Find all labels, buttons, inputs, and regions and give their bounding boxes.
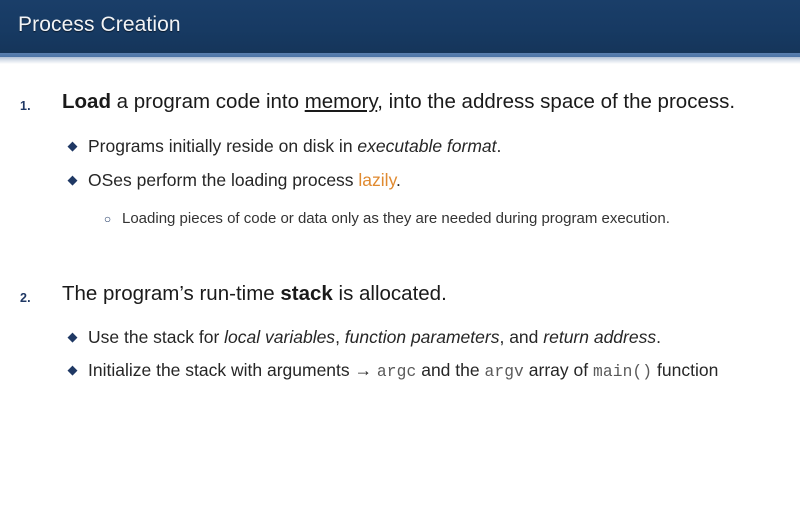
- run-plain-6c: , and: [499, 327, 543, 347]
- list-item-4: ○ Loading pieces of code or data only as…: [0, 205, 800, 233]
- diamond-bullet-icon: ◆: [64, 165, 81, 195]
- list-item-2: ◆ Programs initially reside on disk in e…: [0, 131, 800, 161]
- list-item-5: 2. The program’s run-time stack is alloc…: [0, 277, 800, 311]
- list-number-2: 2.: [20, 281, 31, 315]
- run-plain-1a: a program code into: [111, 90, 305, 113]
- diamond-bullet-icon: ◆: [64, 322, 81, 352]
- run-plain-5a: The program’s run-time: [62, 282, 280, 305]
- run-plain-6a: Use the stack for: [88, 327, 224, 347]
- run-italic-local-variables: local variables: [224, 327, 335, 347]
- right-arrow-icon: →: [355, 360, 373, 380]
- code-argc: argc: [377, 362, 416, 381]
- run-plain-5b: is allocated.: [333, 282, 447, 305]
- list-item-4-text: Loading pieces of code or data only as t…: [122, 210, 670, 227]
- hollow-circle-bullet-icon: ○: [100, 205, 115, 233]
- list-item-6: ◆ Use the stack for local variables, fun…: [0, 322, 800, 352]
- run-plain-6d: .: [656, 327, 661, 347]
- list-item-3: ◆ OSes perform the loading process lazil…: [0, 165, 800, 195]
- run-bold-stack: stack: [280, 282, 332, 305]
- list-item-7: ◆ Initialize the stack with arguments → …: [0, 355, 800, 387]
- run-plain-3a: OSes perform the loading process: [88, 170, 358, 190]
- title-accent-fade: [0, 57, 800, 64]
- list-item-7-text: Initialize the stack with arguments → ar…: [88, 360, 718, 380]
- code-argv: argv: [484, 362, 523, 381]
- list-item-1: 1. Load a program code into memory, into…: [0, 85, 800, 119]
- slide-content: 1. Load a program code into memory, into…: [0, 64, 800, 531]
- diamond-bullet-icon: ◆: [64, 131, 81, 161]
- slide: Process Creation 1. Load a program code …: [0, 0, 800, 531]
- run-plain-2b: .: [497, 136, 502, 156]
- list-item-1-text: Load a program code into memory, into th…: [62, 90, 735, 113]
- run-plain-7a: Initialize the stack with arguments: [88, 360, 355, 380]
- run-highlight-lazily: lazily: [358, 170, 396, 190]
- run-plain-7c: array of: [524, 360, 593, 380]
- run-plain-7d: function: [652, 360, 718, 380]
- run-italic-executable-format: executable format: [357, 136, 496, 156]
- run-plain-7b: and the: [416, 360, 484, 380]
- list-item-3-text: OSes perform the loading process lazily.: [88, 170, 401, 190]
- run-underline-memory: memory: [305, 90, 378, 113]
- run-bold-load: Load: [62, 90, 111, 113]
- list-item-6-text: Use the stack for local variables, funct…: [88, 327, 661, 347]
- list-item-5-text: The program’s run-time stack is allocate…: [62, 282, 447, 305]
- run-italic-function-parameters: function parameters: [345, 327, 500, 347]
- list-number-1: 1.: [20, 89, 31, 123]
- code-main: main(): [593, 362, 652, 381]
- run-plain-6b: ,: [335, 327, 345, 347]
- run-plain-1b: , into the address space of the process.: [377, 90, 735, 113]
- diamond-bullet-icon: ◆: [64, 355, 81, 385]
- list-item-2-text: Programs initially reside on disk in exe…: [88, 136, 501, 156]
- run-plain-3b: .: [396, 170, 401, 190]
- page-title: Process Creation: [18, 13, 181, 37]
- run-italic-return-address: return address: [543, 327, 656, 347]
- run-plain-2a: Programs initially reside on disk in: [88, 136, 357, 156]
- slide-title-bar: Process Creation: [0, 0, 800, 53]
